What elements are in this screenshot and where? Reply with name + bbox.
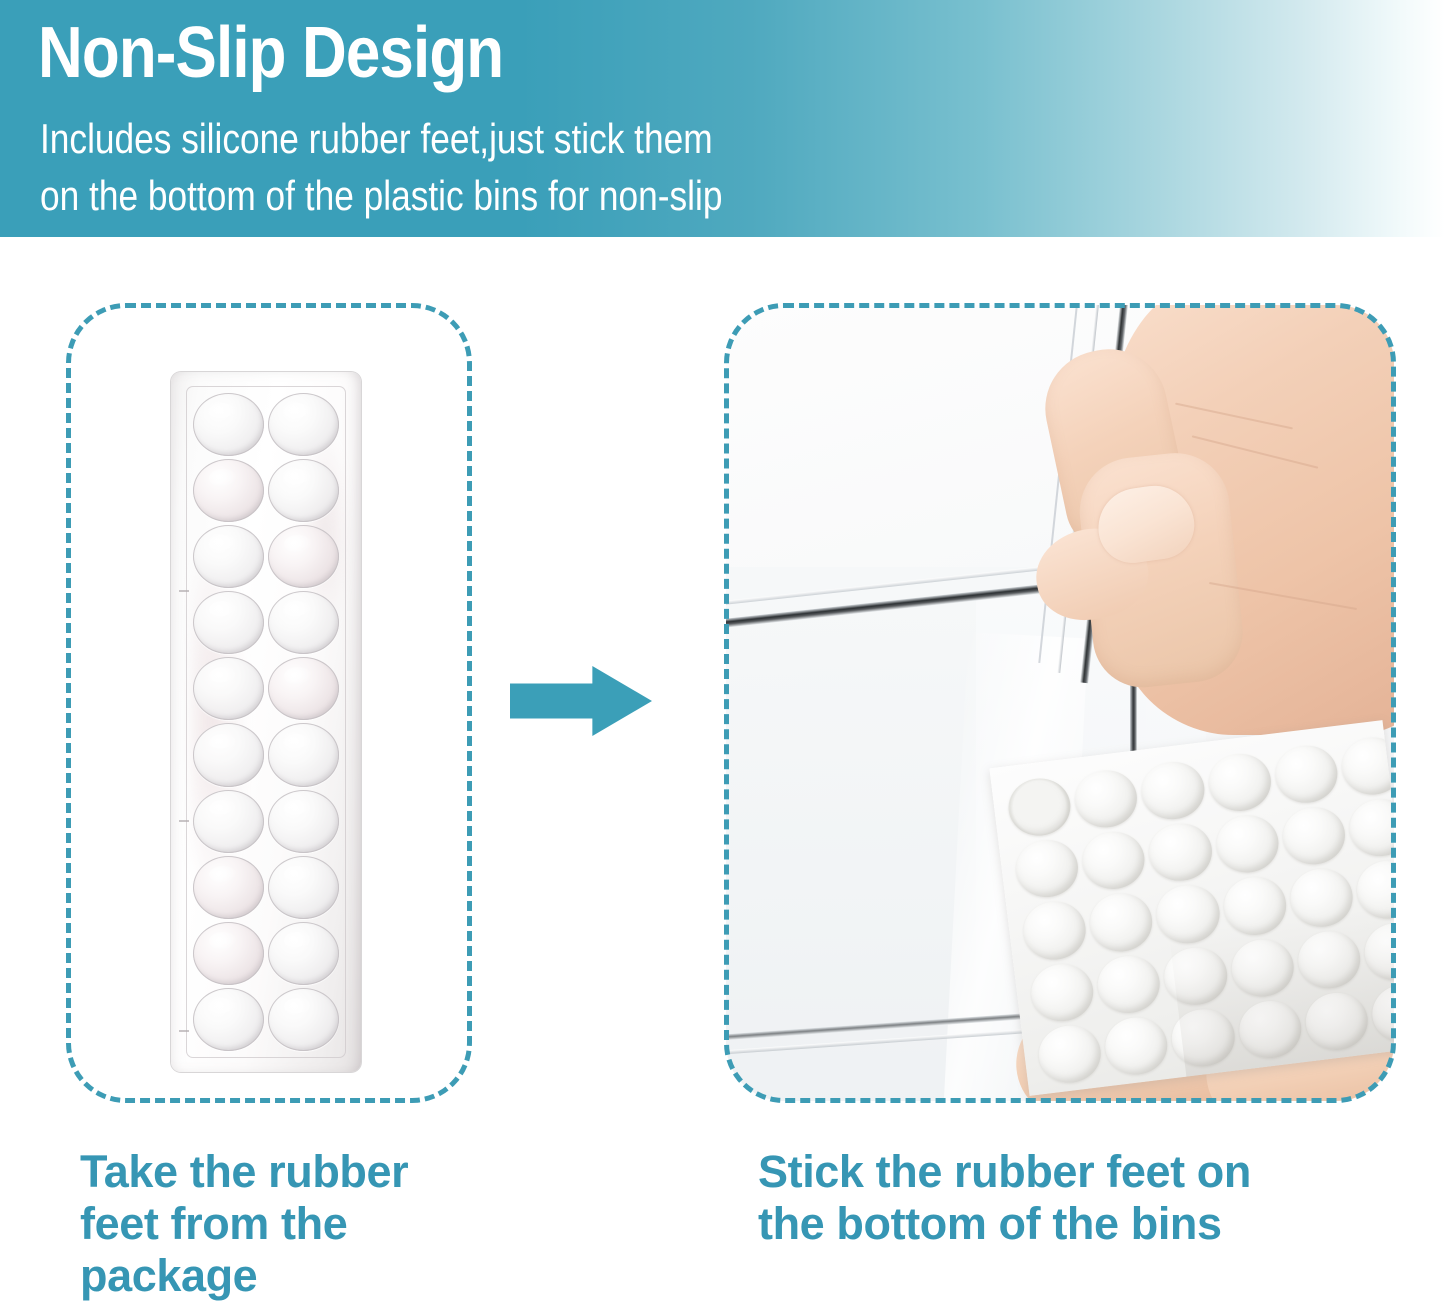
rubber-foot-dome: [193, 591, 264, 654]
blister-pack-body: [171, 372, 361, 1072]
rubber-foot-dome: [193, 922, 264, 985]
rubber-foot-dome: [193, 856, 264, 919]
blister-dome-grid: [193, 393, 339, 1051]
page-title: Non-Slip Design: [38, 11, 503, 95]
rubber-foot-dome: [193, 988, 264, 1051]
banner-subtitle-line-2: on the bottom of the plastic bins for no…: [40, 167, 722, 224]
blister-seam-top: [179, 590, 189, 592]
step-two-caption-line-1: Stick the rubber feet on: [758, 1146, 1398, 1198]
rubber-foot-dome: [268, 591, 339, 654]
rubber-foot-dome: [193, 459, 264, 522]
step-one-caption-line-1: Take the rubber: [80, 1146, 500, 1198]
header-banner: Non-Slip Design Includes silicone rubber…: [0, 0, 1445, 237]
rubber-foot-dome: [268, 922, 339, 985]
rubber-foot-dome: [268, 790, 339, 853]
rubber-foot-dome: [268, 459, 339, 522]
step-one-caption: Take the rubber feet from the package: [80, 1146, 500, 1302]
banner-subtitle-line-1: Includes silicone rubber feet,just stick…: [40, 110, 722, 167]
rubber-foot-dome: [193, 525, 264, 588]
step-two-panel: [724, 303, 1396, 1103]
blister-seam-bottom: [179, 1030, 189, 1032]
rubber-foot-dome: [193, 657, 264, 720]
step-two-caption-line-2: the bottom of the bins: [758, 1198, 1398, 1250]
rubber-foot-dome: [268, 393, 339, 456]
blister-seam-mid: [179, 820, 189, 822]
step-two-caption: Stick the rubber feet on the bottom of t…: [758, 1146, 1398, 1250]
banner-subtitle: Includes silicone rubber feet,just stick…: [40, 110, 722, 224]
rubber-foot-dome: [268, 723, 339, 786]
rubber-foot-dome: [193, 723, 264, 786]
blister-pack-image: [171, 372, 361, 1072]
step-one-caption-line-2: feet from the: [80, 1198, 500, 1250]
step-one-caption-line-3: package: [80, 1250, 500, 1302]
rubber-foot-dome: [268, 856, 339, 919]
rubber-foot-dome: [268, 525, 339, 588]
rubber-foot-dome: [268, 657, 339, 720]
rubber-foot-dome: [193, 790, 264, 853]
rubber-foot-dome: [193, 393, 264, 456]
rubber-foot-dome: [268, 988, 339, 1051]
step-flow-arrow-icon: [510, 666, 652, 736]
